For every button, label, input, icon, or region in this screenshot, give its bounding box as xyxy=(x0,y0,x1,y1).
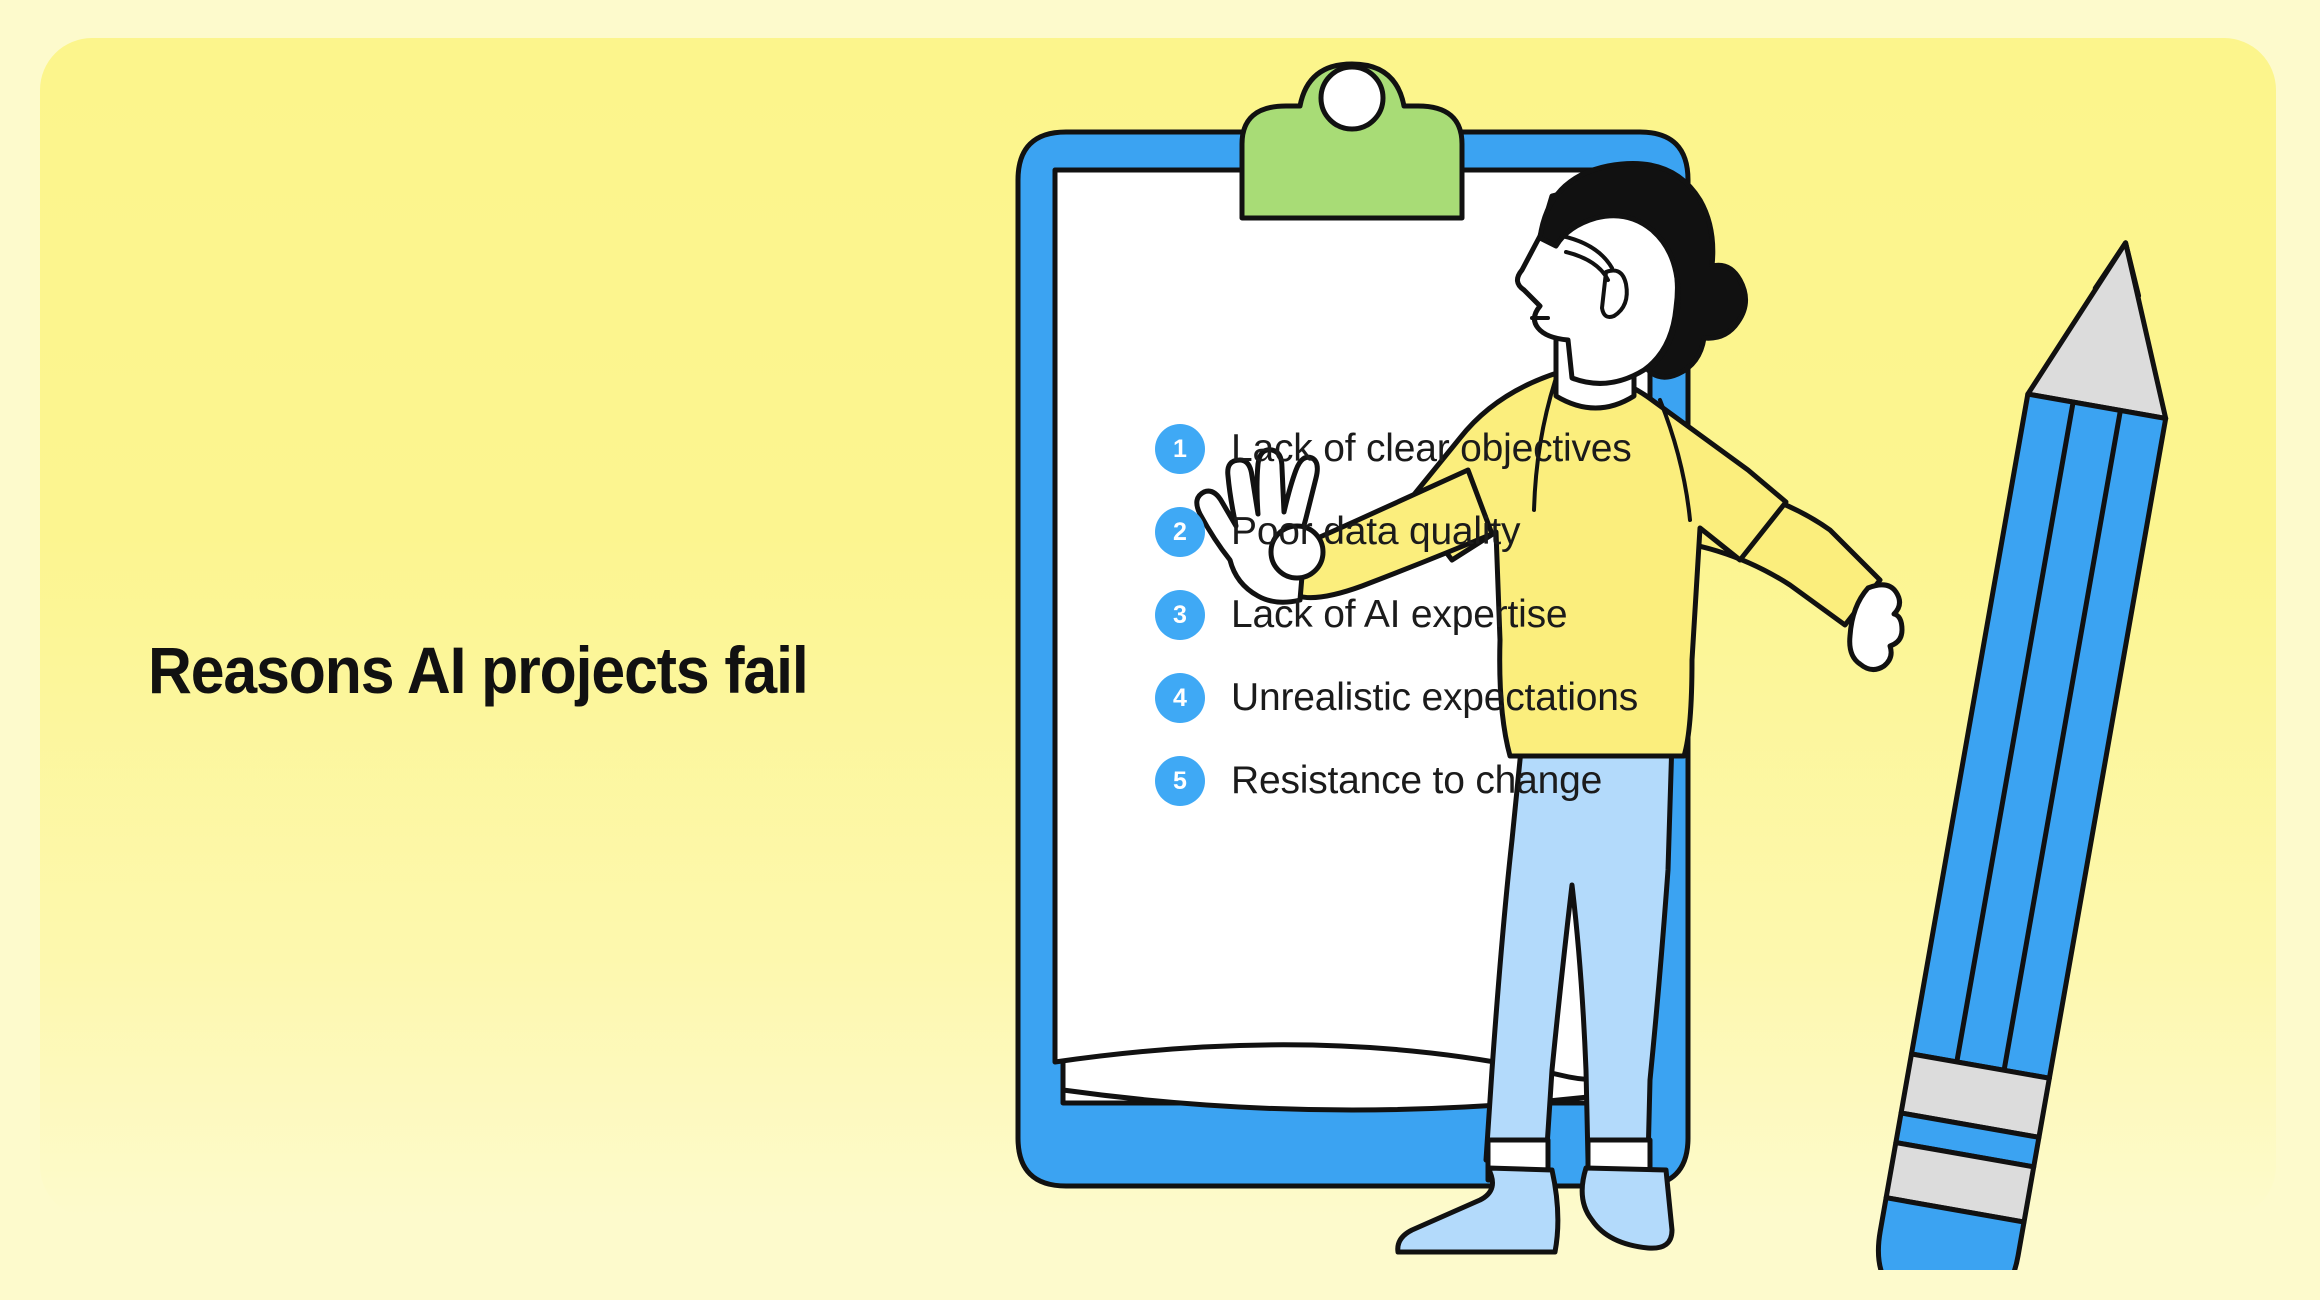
list-item: 5 Resistance to change xyxy=(1155,740,1795,822)
list-item: 1 Lack of clear objectives xyxy=(1155,408,1795,490)
list-item: 4 Unrealistic expectations xyxy=(1155,657,1795,739)
list-label-4: Unrealistic expectations xyxy=(1231,676,1638,720)
list-item: 3 Lack of AI expertise xyxy=(1155,574,1795,656)
list-label-3: Lack of AI expertise xyxy=(1231,593,1567,637)
page-title: Reasons AI projects fail xyxy=(148,636,939,706)
list-label-5: Resistance to change xyxy=(1231,759,1602,803)
list-item: 2 Poor data quality xyxy=(1155,491,1795,573)
list-badge-3: 3 xyxy=(1155,590,1205,640)
list-badge-2: 2 xyxy=(1155,507,1205,557)
list-badge-1: 1 xyxy=(1155,424,1205,474)
pencil xyxy=(1868,231,2194,1270)
clipboard-clip xyxy=(1242,64,1462,218)
list-label-1: Lack of clear objectives xyxy=(1231,427,1632,471)
list-label-2: Poor data quality xyxy=(1231,510,1520,554)
list-badge-4: 4 xyxy=(1155,673,1205,723)
list-badge-5: 5 xyxy=(1155,756,1205,806)
slide-canvas: Reasons AI projects fail xyxy=(0,0,2320,1300)
reasons-list: 1 Lack of clear objectives 2 Poor data q… xyxy=(1155,408,1795,823)
